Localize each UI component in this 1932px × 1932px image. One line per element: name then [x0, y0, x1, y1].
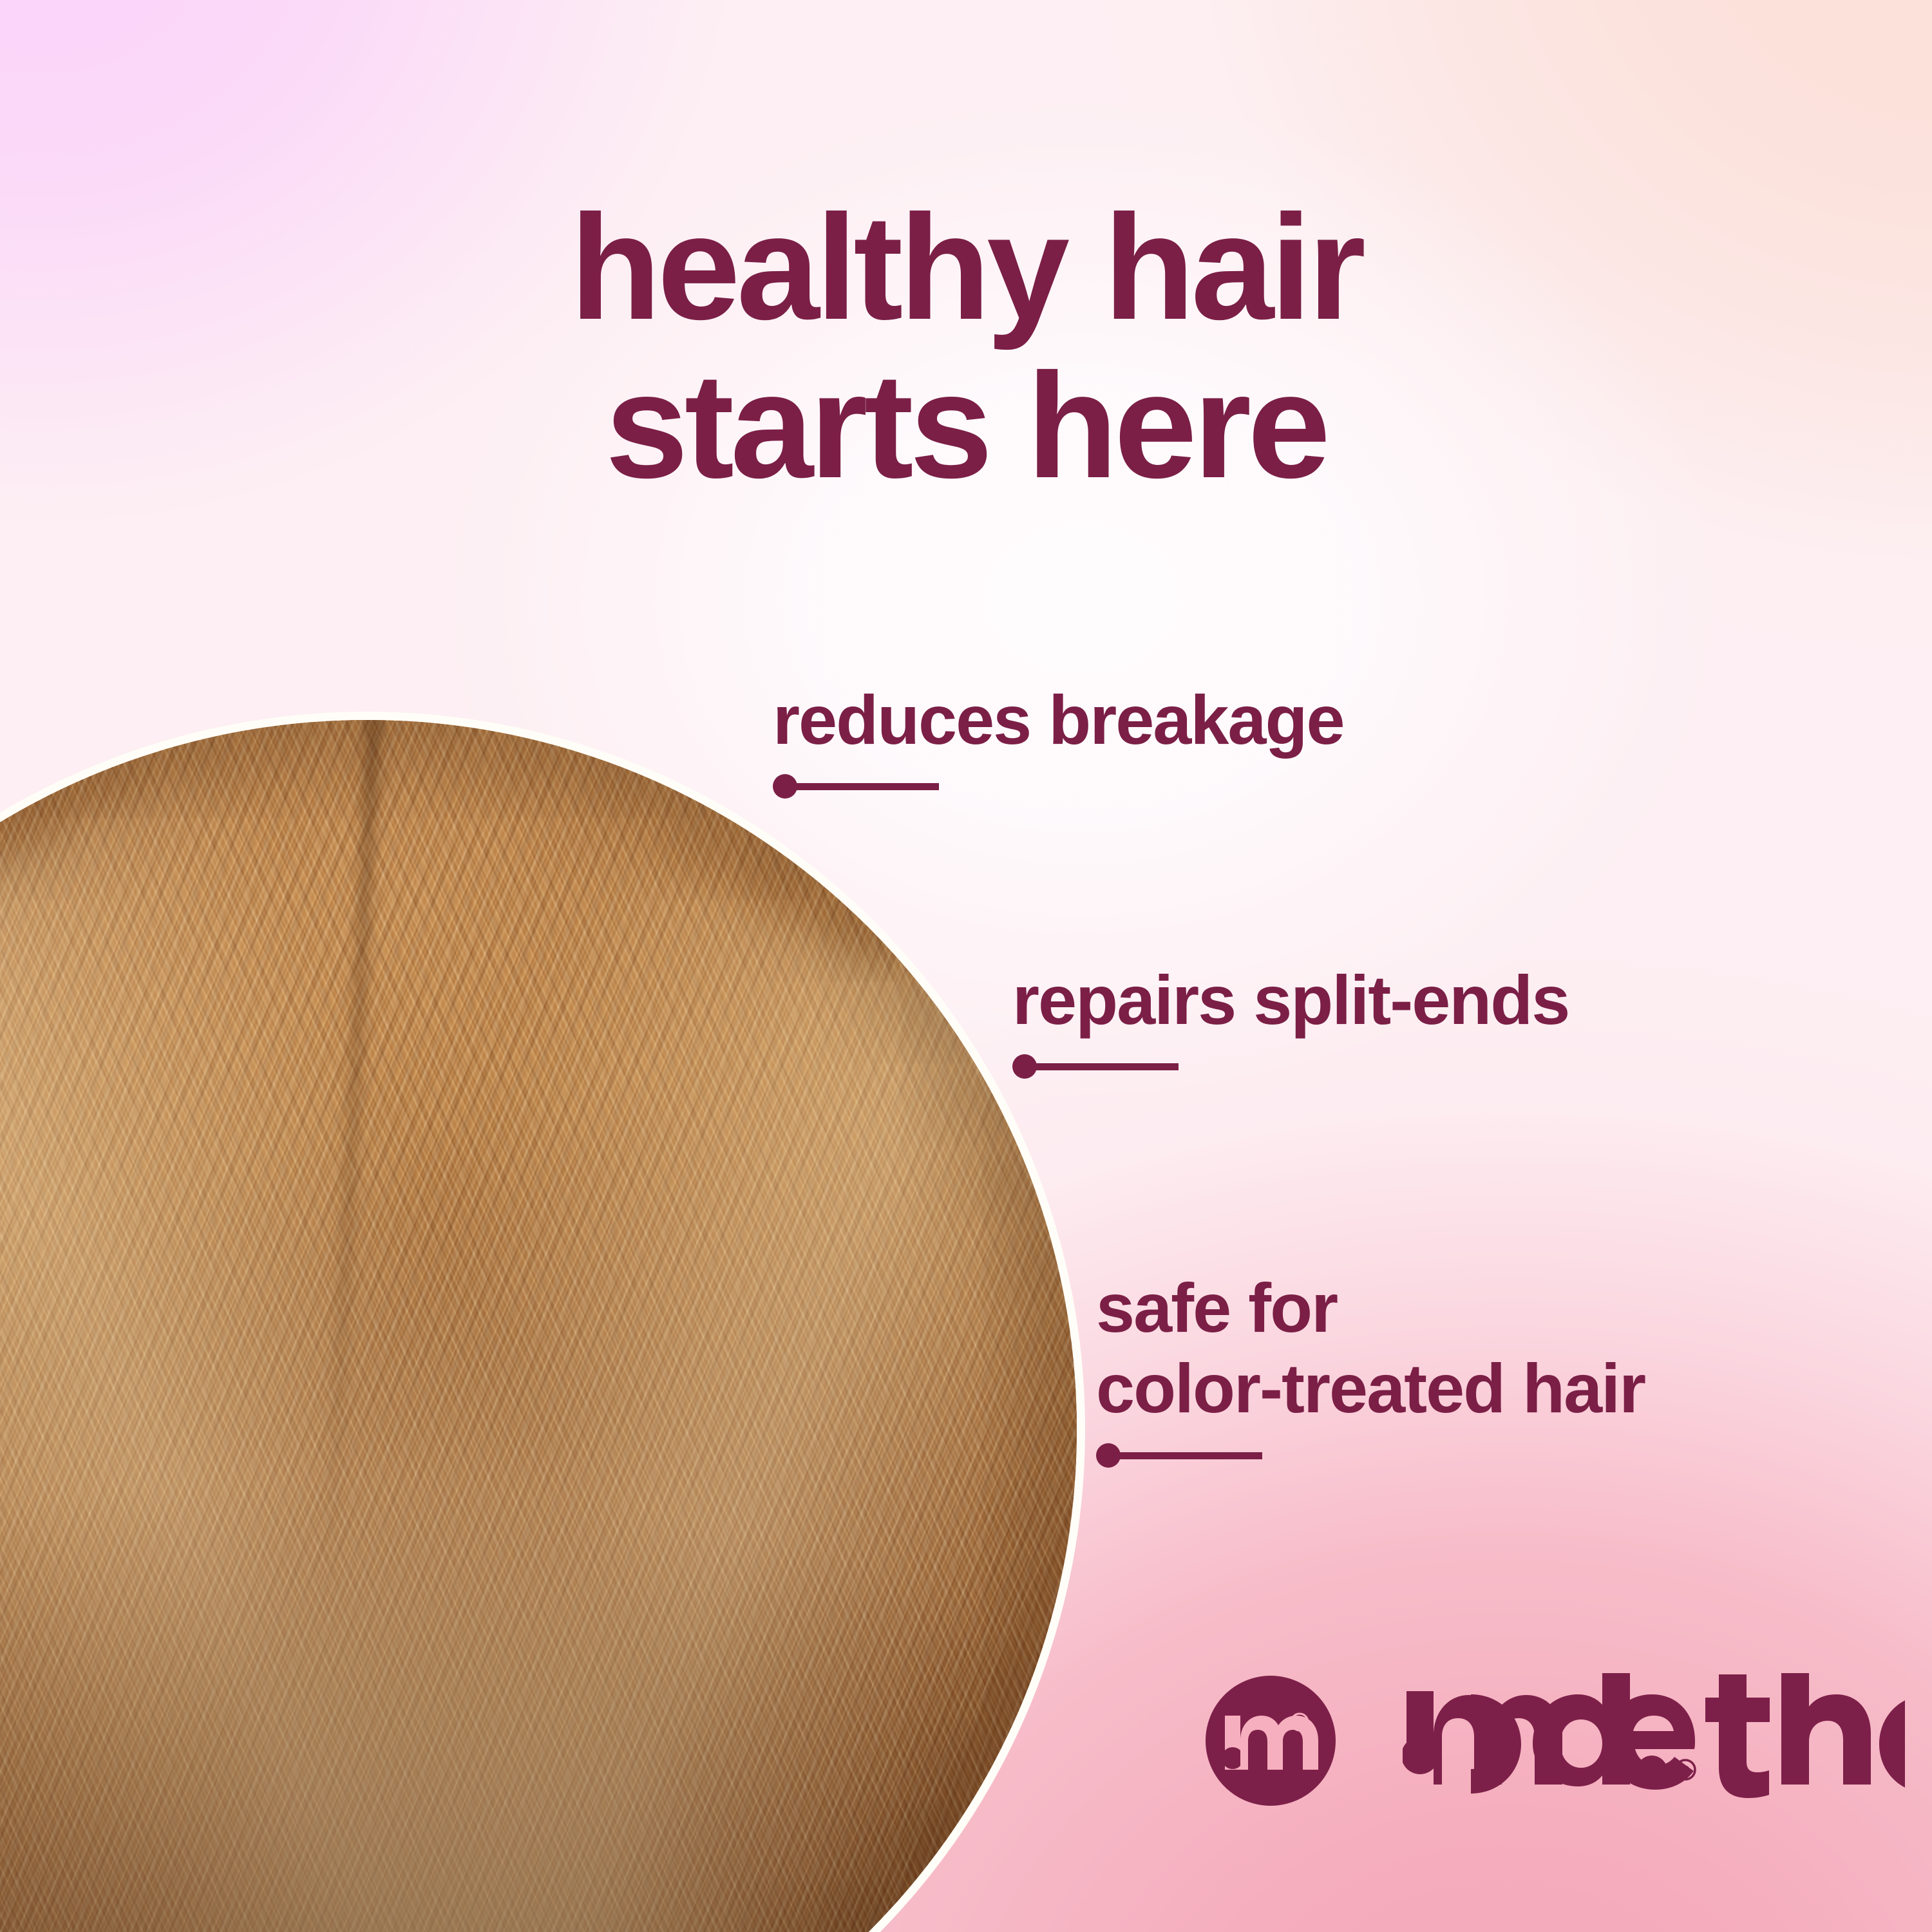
method-wordmark-tail: R [1470, 1673, 1740, 1812]
method-circle-m-icon: R [1206, 1676, 1336, 1806]
hair-circle-image [0, 712, 1085, 1932]
headline-line-1: healthy hair [0, 193, 1932, 343]
benefit-item: safe for color-treated hair [1096, 1267, 1645, 1469]
benefit-label: safe for color-treated hair [1096, 1267, 1645, 1429]
hair-photo [0, 720, 1077, 1932]
dot-line-marker-icon [1096, 1443, 1645, 1469]
marker-bar-icon [1114, 1452, 1262, 1459]
dot-line-marker-icon [1012, 1054, 1569, 1080]
benefit-item: repairs split-ends [1012, 960, 1569, 1080]
headline: healthy hair starts here [0, 193, 1932, 501]
benefit-label: reduces breakage [773, 679, 1344, 760]
svg-text:R: R [1681, 1764, 1690, 1777]
promo-creative: healthy hair starts here reduces breakag… [0, 0, 1932, 1932]
brand-logo-lockup: R [1206, 1673, 1905, 1808]
benefit-item: reduces breakage [773, 679, 1344, 800]
headline-line-2: starts here [0, 352, 1932, 501]
benefit-label: repairs split-ends [1012, 960, 1569, 1040]
dot-line-marker-icon [773, 774, 1344, 800]
marker-bar-icon [1030, 1063, 1179, 1070]
marker-bar-icon [791, 783, 939, 790]
svg-text:R: R [1296, 1718, 1303, 1728]
